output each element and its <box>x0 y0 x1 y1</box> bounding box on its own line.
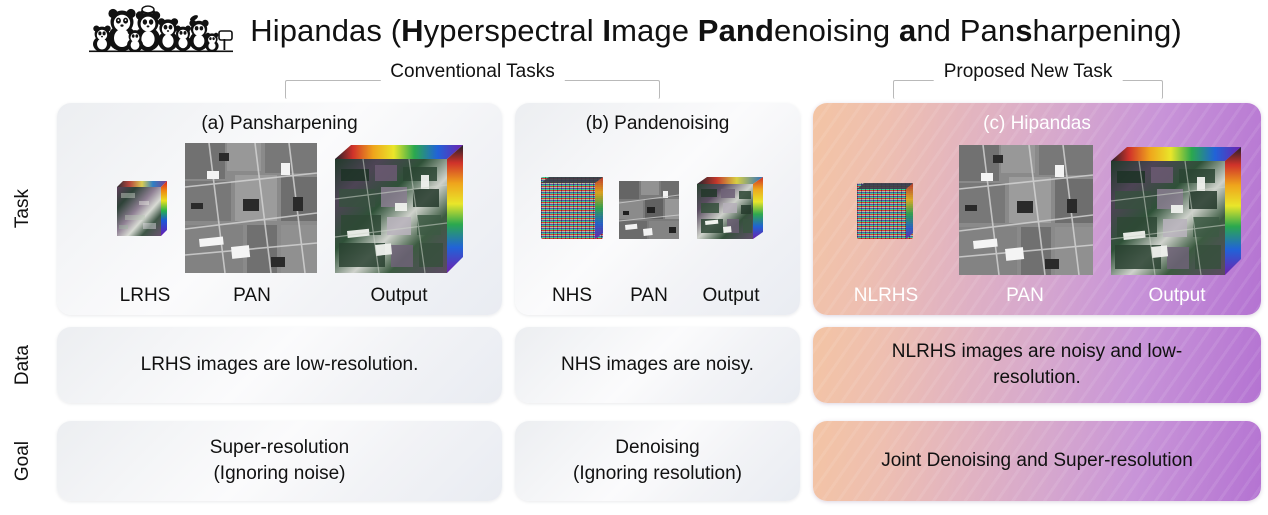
figure-root: Hipandas (Hyperspectral Image Pandenoisi… <box>0 0 1268 515</box>
figure-title-row: Hipandas (Hyperspectral Image Pandenoisi… <box>0 2 1268 58</box>
goal-card-text: Super-resolution (Ignoring noise) <box>73 435 486 486</box>
task-card-pandenoising: (b) Pandenoising NHS <box>515 103 800 315</box>
pan-thumbnail <box>959 145 1093 275</box>
goal-line-1: Super-resolution <box>73 435 486 461</box>
output-thumbnail <box>1111 147 1241 275</box>
output-thumbnail <box>697 177 763 239</box>
row-label-task: Task <box>6 103 40 315</box>
data-card-text: NHS images are noisy. <box>531 352 784 378</box>
caption-pan: PAN <box>971 285 1079 307</box>
task-card-title: (b) Pandenoising <box>515 113 800 135</box>
caption-lrhs: LRHS <box>109 285 181 307</box>
nhs-thumbnail <box>541 177 603 239</box>
pan-grayscale-svg <box>959 145 1093 275</box>
output-cube-svg <box>1111 147 1241 275</box>
data-card-text: NLRHS images are noisy and low-resolutio… <box>867 339 1207 390</box>
bracket-conventional-tasks: Conventional Tasks <box>285 59 660 99</box>
output-cube-svg <box>335 145 463 273</box>
goal-line-1: Denoising <box>531 435 784 461</box>
goal-line-2: (Ignoring noise) <box>73 461 486 487</box>
data-card-text: LRHS images are low-resolution. <box>73 352 486 378</box>
task-card-hipandas: (c) Hipandas NLRHS <box>813 103 1261 315</box>
caption-output: Output <box>1121 285 1233 307</box>
output-thumbnail <box>335 145 463 273</box>
task-card-title: (c) Hipandas <box>813 113 1261 135</box>
bracket-label: Proposed New Task <box>934 61 1123 83</box>
row-label-task-text: Task <box>12 189 34 228</box>
data-card-pansharpening: LRHS images are low-resolution. <box>57 327 502 403</box>
output-cube-svg <box>697 177 763 239</box>
task-card-pansharpening: (a) Pansharpening <box>57 103 502 315</box>
goal-line-2: (Ignoring resolution) <box>531 461 784 487</box>
caption-output: Output <box>693 285 769 307</box>
goal-card-pansharpening: Super-resolution (Ignoring noise) <box>57 421 502 501</box>
pan-grayscale-svg <box>185 143 317 273</box>
caption-nlrhs: NLRHS <box>841 285 931 307</box>
goal-card-text: Joint Denoising and Super-resolution <box>829 448 1245 474</box>
row-label-data: Data <box>6 327 40 403</box>
nlrhs-thumbnail <box>857 183 913 239</box>
page-title: Hipandas (Hyperspectral Image Pandenoisi… <box>250 15 1182 46</box>
caption-pan: PAN <box>207 285 297 307</box>
goal-card-pandenoising: Denoising (Ignoring resolution) <box>515 421 800 501</box>
data-card-hipandas: NLRHS images are noisy and low-resolutio… <box>813 327 1261 403</box>
nhs-cube-svg <box>541 177 603 239</box>
pan-grayscale-svg <box>619 181 679 239</box>
row-label-goal: Goal <box>6 421 40 501</box>
data-card-pandenoising: NHS images are noisy. <box>515 327 800 403</box>
caption-pan: PAN <box>615 285 683 307</box>
goal-card-hipandas: Joint Denoising and Super-resolution <box>813 421 1261 501</box>
caption-nhs: NHS <box>535 285 609 307</box>
lrhs-thumbnail <box>117 181 172 236</box>
goal-card-text: Denoising (Ignoring resolution) <box>531 435 784 486</box>
row-label-goal-text: Goal <box>12 441 34 481</box>
bracket-label: Conventional Tasks <box>380 61 564 83</box>
bracket-proposed-new-task: Proposed New Task <box>893 59 1163 99</box>
panda-group-logo-icon <box>86 5 236 55</box>
pan-thumbnail <box>185 143 317 273</box>
row-label-data-text: Data <box>12 345 34 385</box>
caption-output: Output <box>349 285 449 307</box>
pan-thumbnail <box>619 181 679 239</box>
nlrhs-cube-svg <box>857 183 913 239</box>
lrhs-cube-svg <box>117 181 172 236</box>
task-card-title: (a) Pansharpening <box>57 113 502 135</box>
